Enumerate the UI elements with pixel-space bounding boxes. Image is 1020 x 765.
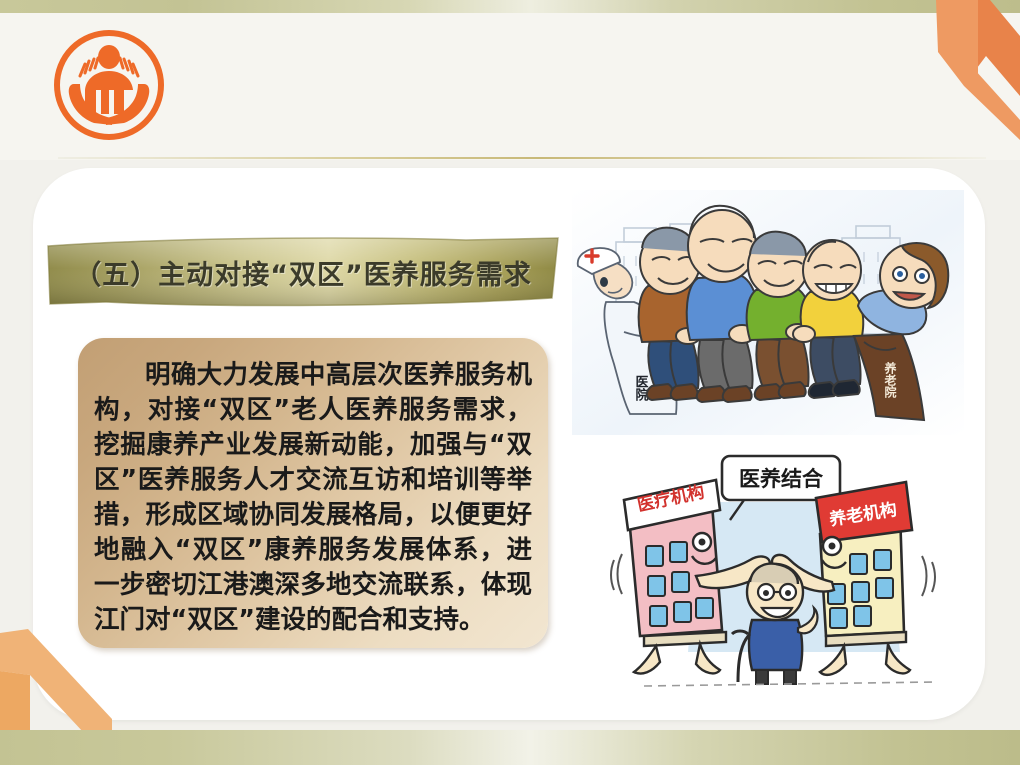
section-title-ribbon: （五）主动对接“双区”医养服务需求 bbox=[46, 236, 560, 308]
body-text-panel: 明确大力发展中高层次医养服务机构，对接“双区”老人医养服务需求，挖掘康养产业发展… bbox=[78, 338, 548, 648]
institutions-illustration: 医养结合 医疗机构 bbox=[604, 442, 976, 692]
slide-root: （五）主动对接“双区”医养服务需求 明确大力发展中高层次医养服务机构，对接“双区… bbox=[0, 0, 1020, 765]
body-paragraph: 明确大力发展中高层次医养服务机构，对接“双区”老人医养服务需求，挖掘康养产业发展… bbox=[94, 358, 532, 638]
nursing-home-label: 养老院 bbox=[883, 361, 897, 399]
civil-affairs-emblem-icon bbox=[52, 28, 166, 142]
top-decor-band bbox=[0, 0, 1020, 13]
hospital-label: 医院 bbox=[633, 375, 649, 402]
bottom-decor-band bbox=[0, 730, 1020, 765]
callout-label: 医养结合 bbox=[739, 467, 824, 491]
header-divider bbox=[58, 157, 986, 159]
elderly-seated-illustration: 医院 bbox=[572, 190, 964, 435]
section-title-text: （五）主动对接“双区”医养服务需求 bbox=[46, 236, 560, 308]
